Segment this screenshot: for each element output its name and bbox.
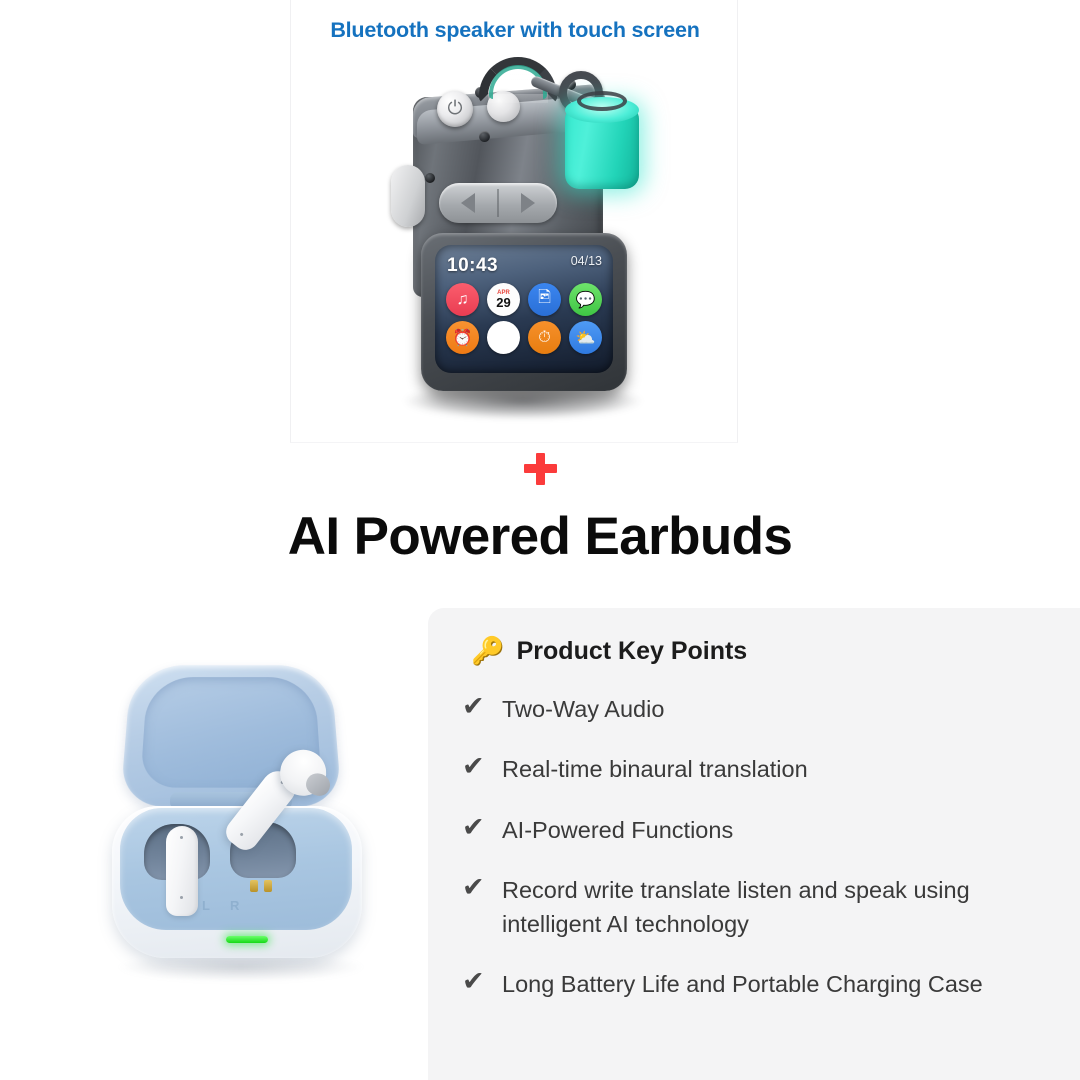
gallery-app-icon: ✿ <box>487 321 520 354</box>
list-item: ✔ Two-Way Audio <box>462 692 1062 726</box>
list-item: ✔ Real-time binaural translation <box>462 752 1062 786</box>
alarm-app-icon: ⏰ <box>446 321 479 354</box>
messages-app-icon: 💬 <box>569 283 602 316</box>
list-item-label: Two-Way Audio <box>502 692 664 726</box>
track-control-pad <box>439 183 557 223</box>
check-icon: ✔ <box>462 813 488 841</box>
screen-time: 10:43 <box>447 255 498 277</box>
key-points-panel: 🔑 Product Key Points ✔ Two-Way Audio ✔ R… <box>428 608 1080 1080</box>
charging-pin-icon <box>264 880 272 892</box>
earbud-mic-dot <box>180 896 183 899</box>
key-points-title: 🔑 Product Key Points <box>471 637 747 666</box>
calendar-day-label: 29 <box>496 296 510 309</box>
key-icon: 🔑 <box>471 638 505 665</box>
screen-app-grid: ♫ APR 29 🖻 💬 ⏰ ✿ ⏱ ⛅ <box>444 283 604 354</box>
bluetooth-speaker-title: Bluetooth speaker with touch screen <box>291 18 739 43</box>
key-points-list: ✔ Two-Way Audio ✔ Real-time binaural tra… <box>462 692 1062 1028</box>
gadget-render: 10:43 04/13 ♫ APR 29 🖻 💬 ⏰ ✿ ⏱ ⛅ <box>387 53 657 443</box>
list-item: ✔ Long Battery Life and Portable Chargin… <box>462 967 1062 1001</box>
page-title: AI Powered Earbuds <box>0 506 1080 567</box>
power-button-icon <box>437 91 473 127</box>
list-item: ✔ Record write translate listen and spea… <box>462 873 1062 942</box>
charging-pin-icon <box>250 880 258 892</box>
status-led-indicator <box>226 936 268 943</box>
weather-app-icon: ⛅ <box>569 321 602 354</box>
right-marker-label: R <box>230 898 239 913</box>
plus-separator <box>0 452 1080 491</box>
bluetooth-speaker-image: 10:43 04/13 ♫ APR 29 🖻 💬 ⏰ ✿ ⏱ ⛅ <box>291 43 739 443</box>
check-icon: ✔ <box>462 967 488 995</box>
screen-date: 04/13 <box>571 254 602 268</box>
list-item-label: Long Battery Life and Portable Charging … <box>502 967 983 1001</box>
photos-app-icon: 🖻 <box>528 283 561 316</box>
list-item-label: AI-Powered Functions <box>502 813 733 847</box>
check-icon: ✔ <box>462 873 488 901</box>
previous-track-button <box>439 183 497 223</box>
screw-icon <box>479 131 490 142</box>
left-marker-label: L <box>202 898 210 913</box>
product-listing-page: Bluetooth speaker with touch screen <box>0 0 1080 1080</box>
earbud-in-case <box>166 826 198 916</box>
microphone-icon <box>425 173 435 183</box>
key-points-title-text: Product Key Points <box>517 637 748 666</box>
list-item-label: Record write translate listen and speak … <box>502 873 1062 942</box>
next-icon <box>521 193 535 213</box>
music-app-icon: ♫ <box>446 283 479 316</box>
earbuds-image: L R <box>78 640 418 1012</box>
earbud-mic-dot <box>180 836 183 839</box>
next-track-button <box>499 183 557 223</box>
gadget-side-dial <box>391 165 425 227</box>
bluetooth-speaker-panel: Bluetooth speaker with touch screen <box>290 0 738 443</box>
touch-screen: 10:43 04/13 ♫ APR 29 🖻 💬 ⏰ ✿ ⏱ ⛅ <box>435 245 613 373</box>
previous-icon <box>461 193 475 213</box>
plus-icon <box>523 452 557 486</box>
list-item: ✔ AI-Powered Functions <box>462 813 1062 847</box>
check-icon: ✔ <box>462 752 488 780</box>
calendar-app-icon: APR 29 <box>487 283 520 316</box>
timer-app-icon: ⏱ <box>528 321 561 354</box>
earbud-mic-dot <box>240 832 244 836</box>
list-item-label: Real-time binaural translation <box>502 752 808 786</box>
check-icon: ✔ <box>462 692 488 720</box>
glow-cylinder-cap <box>577 91 627 111</box>
